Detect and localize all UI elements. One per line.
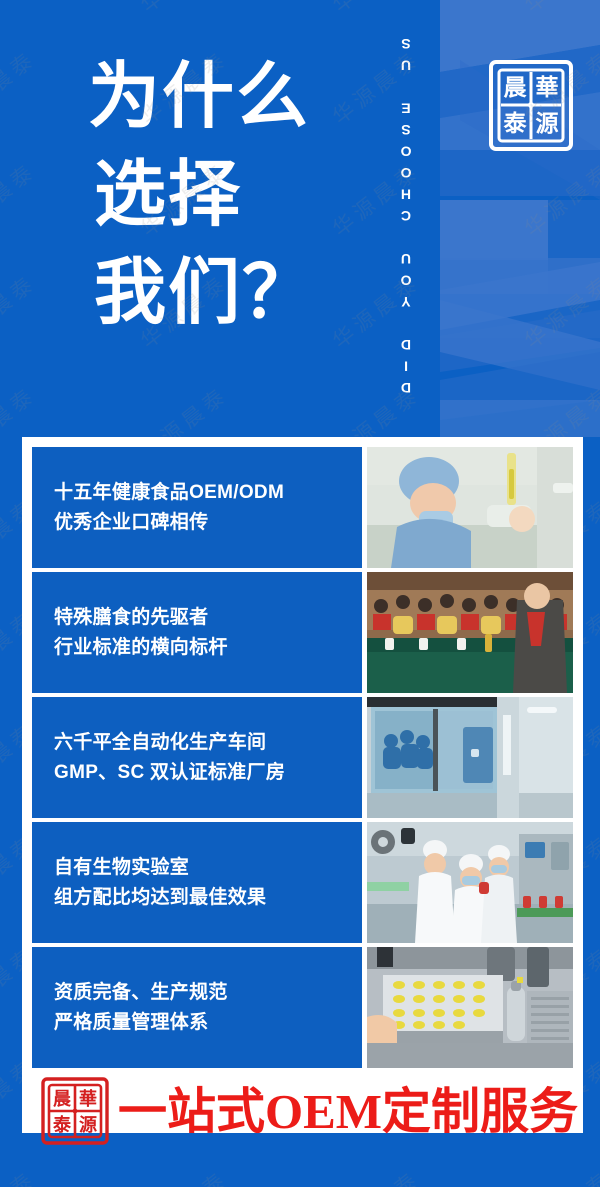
seal-char-yuan: 源 (536, 111, 559, 136)
card-image-conference (367, 572, 573, 693)
seal-char-tai: 泰 (52, 1114, 72, 1135)
seal-char-chen: 晨 (53, 1089, 72, 1109)
watermark-text: 华源晨泰 (134, 1163, 234, 1187)
list-item: 特殊膳食的先驱者 行业标准的横向标杆 (32, 572, 573, 693)
title-line-2: 选择 (88, 146, 388, 244)
card-line-1: 六千平全自动化生产车间 (54, 728, 340, 758)
card-laboratory[interactable]: 自有生物实验室 组方配比均达到最佳效果 (32, 822, 362, 943)
card-workshop[interactable]: 六千平全自动化生产车间 GMP、SC 双认证标准厂房 (32, 697, 362, 818)
card-image-blister-packing (367, 947, 573, 1068)
page-title: 为什么 选择 我们？ (88, 48, 388, 342)
seal-char-yuan: 源 (79, 1114, 97, 1135)
card-line-2: 严格质量管理体系 (54, 1008, 340, 1038)
company-seal-red-icon: 華 源 晨 泰 (40, 1076, 110, 1146)
poster-root: 为什么 选择 我们？ DID YOU CHOOSE US 華 源 晨 泰 十五 (0, 0, 600, 1187)
card-line-1: 十五年健康食品OEM/ODM (54, 478, 340, 508)
vertical-tagline: DID YOU CHOOSE US (398, 18, 424, 408)
features-panel: 十五年健康食品OEM/ODM 优秀企业口碑相传 (22, 437, 583, 1133)
seal-char-hua: 華 (536, 74, 559, 100)
footer-slogan-bar: 華 源 晨 泰 一站式OEM定制服务 (32, 1072, 573, 1150)
card-line-1: 自有生物实验室 (54, 853, 340, 883)
card-image-lab-technician (367, 447, 573, 568)
list-item: 自有生物实验室 组方配比均达到最佳效果 (32, 822, 573, 943)
list-item: 六千平全自动化生产车间 GMP、SC 双认证标准厂房 (32, 697, 573, 818)
footer-slogan: 一站式OEM定制服务 (118, 1087, 578, 1136)
seal-char-hua: 華 (79, 1088, 97, 1109)
card-line-1: 资质完备、生产规范 (54, 978, 340, 1008)
card-image-cleanroom (367, 697, 573, 818)
card-image-lab-staff (367, 822, 573, 943)
list-item: 十五年健康食品OEM/ODM 优秀企业口碑相传 (32, 447, 573, 568)
title-line-1: 为什么 (88, 48, 388, 146)
card-special-diet[interactable]: 特殊膳食的先驱者 行业标准的横向标杆 (32, 572, 362, 693)
features-list: 十五年健康食品OEM/ODM 优秀企业口碑相传 (32, 447, 573, 1150)
card-line-2: 行业标准的横向标杆 (54, 633, 340, 663)
hero-section: 为什么 选择 我们？ DID YOU CHOOSE US 華 源 晨 泰 (0, 0, 600, 437)
watermark-text: 华源晨泰 (326, 1163, 426, 1187)
card-line-1: 特殊膳食的先驱者 (54, 603, 340, 633)
seal-char-tai: 泰 (503, 110, 528, 136)
card-quality[interactable]: 资质完备、生产规范 严格质量管理体系 (32, 947, 362, 1068)
list-item: 资质完备、生产规范 严格质量管理体系 (32, 947, 573, 1068)
watermark-text: 华源晨泰 (518, 1163, 600, 1187)
card-oem-odm[interactable]: 十五年健康食品OEM/ODM 优秀企业口碑相传 (32, 447, 362, 568)
card-line-2: 组方配比均达到最佳效果 (54, 883, 340, 913)
card-line-2: GMP、SC 双认证标准厂房 (54, 758, 340, 788)
watermark-text: 华源晨泰 (0, 1163, 42, 1187)
company-seal-icon: 華 源 晨 泰 (487, 57, 575, 154)
seal-char-chen: 晨 (504, 75, 528, 100)
title-line-3: 我们？ (88, 244, 388, 342)
card-line-2: 优秀企业口碑相传 (54, 508, 340, 538)
